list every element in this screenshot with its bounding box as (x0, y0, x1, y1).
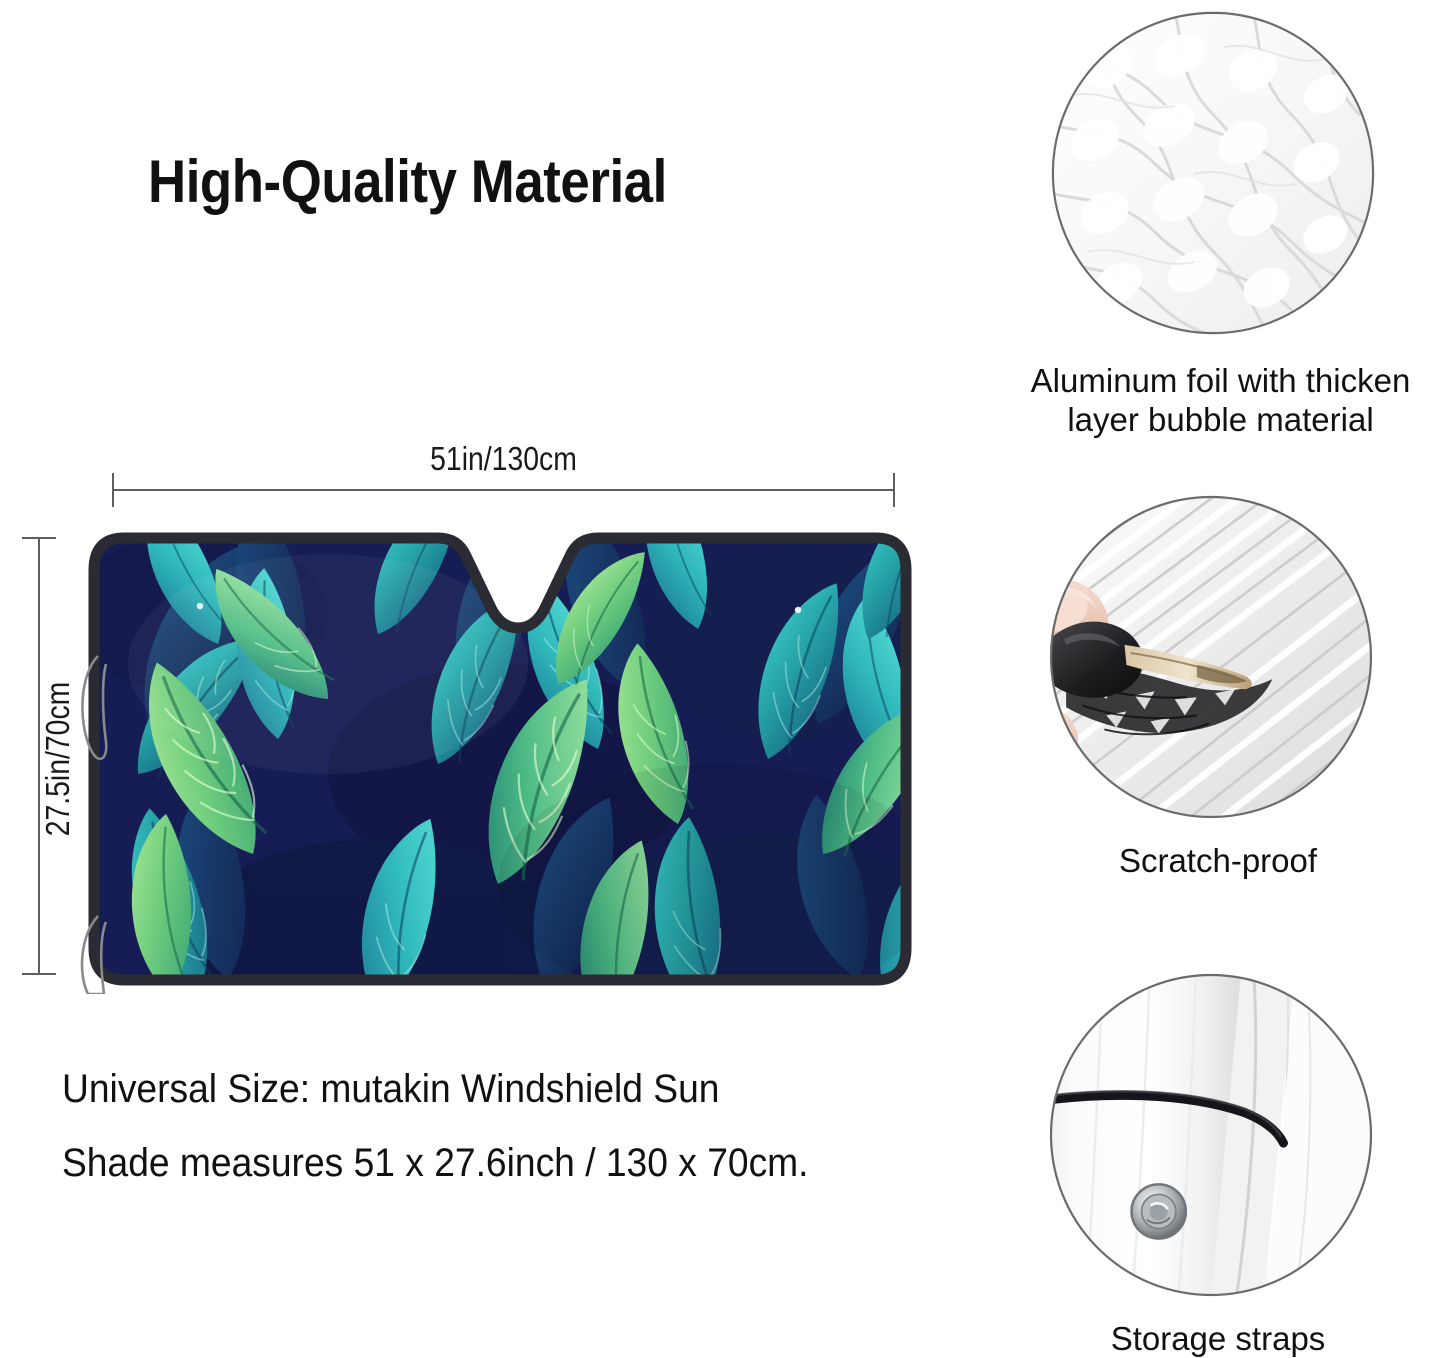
width-dimension-cap-left (112, 473, 114, 507)
width-dimension-label: 51in/130cm (167, 440, 840, 478)
page-title: High-Quality Material (148, 152, 817, 212)
feature-image-scratch-proof (1046, 492, 1374, 820)
height-dimension-cap-bottom (22, 973, 56, 975)
feature-scratch-proof: Scratch-proof (1008, 492, 1428, 880)
feature-caption-aluminum-foil-bubble: Aluminum foil with thicken layer bubble … (1000, 362, 1441, 440)
width-dimension-cap-right (893, 473, 895, 507)
product-sunshade-image (78, 524, 922, 994)
size-caption: Universal Size: mutakin Windshield Sun S… (62, 1052, 983, 1200)
caption-line-1: Aluminum foil with thicken (1000, 362, 1441, 401)
caption-line-1: Storage straps (1008, 1320, 1428, 1358)
caption-line-1: Scratch-proof (1008, 842, 1428, 880)
scratch-test-photo (1046, 492, 1376, 822)
feature-aluminum-foil-bubble: Aluminum foil with thicken layer bubble … (1000, 8, 1441, 440)
suction-dot (197, 603, 203, 609)
height-dimension-label: 27.5in/70cm (39, 630, 77, 888)
suction-dot (795, 607, 801, 613)
infographic-canvas: High-Quality Material 51in/130cm 27.5in/… (0, 0, 1441, 1358)
caption-line-2: layer bubble material (1000, 401, 1441, 440)
feature-caption-scratch-proof: Scratch-proof (1008, 842, 1428, 880)
storage-strap-photo (1046, 970, 1376, 1300)
feature-caption-storage-straps: Storage straps (1008, 1320, 1428, 1358)
size-caption-line-1: Universal Size: mutakin Windshield Sun (62, 1052, 983, 1126)
bubble-foil-photo (1048, 8, 1378, 338)
metal-grommet (1132, 1184, 1186, 1238)
width-dimension-line (112, 489, 895, 491)
height-dimension-cap-top (22, 537, 56, 539)
feature-storage-straps: Storage straps (1008, 970, 1428, 1358)
sunshade-illustration (78, 524, 922, 994)
size-caption-line-2: Shade measures 51 x 27.6inch / 130 x 70c… (62, 1126, 983, 1200)
feature-image-storage-straps (1046, 970, 1374, 1298)
feature-image-aluminum-foil-bubble (1048, 8, 1386, 346)
